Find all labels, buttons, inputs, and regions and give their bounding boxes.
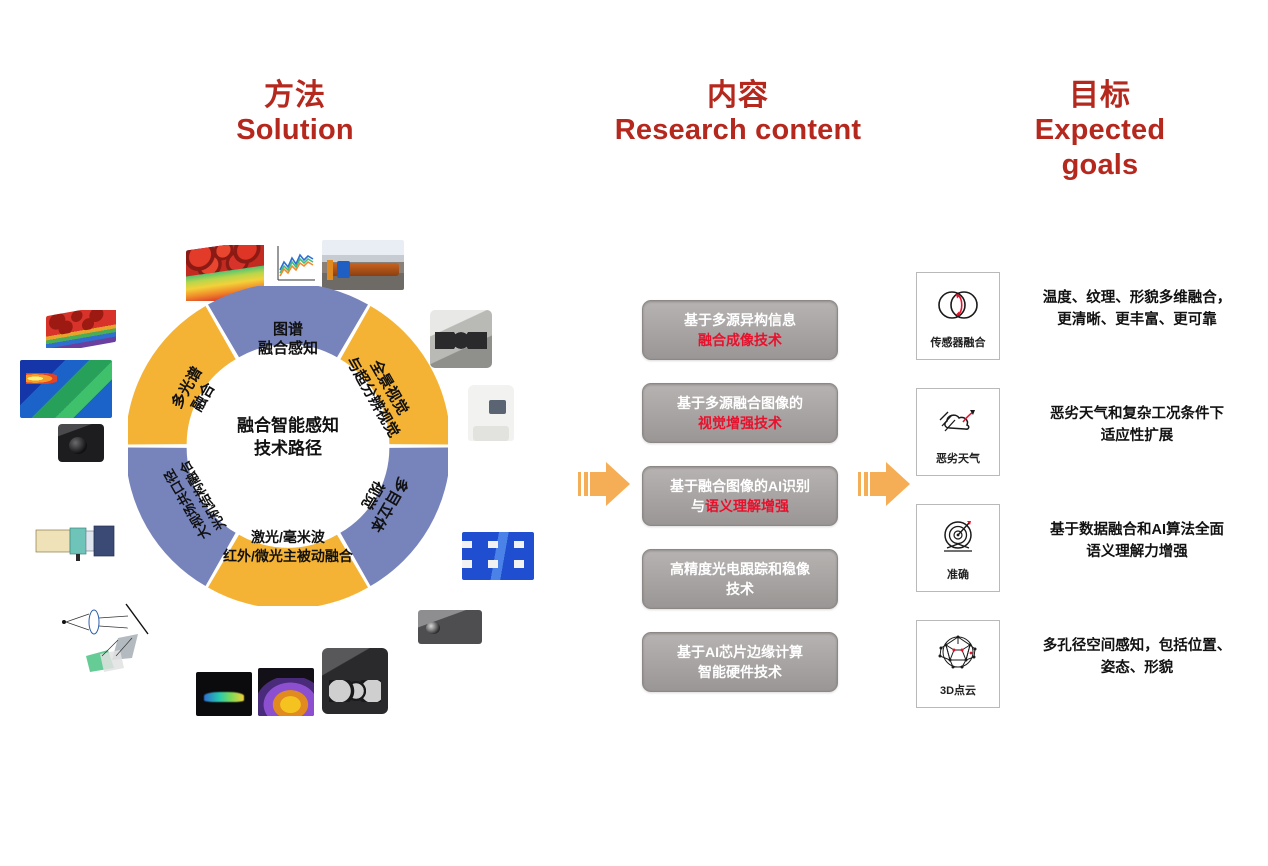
thumbnail-blue-stereo-panel [462,532,534,580]
research-box-4[interactable]: 高精度光电跟踪和稳像 技术 [642,549,838,609]
research-box-1-line1: 基于多源异构信息 [684,310,796,330]
goal-text-2-line2: 适应性扩展 [1028,426,1246,448]
column-heading-goals: 目标 Expected goals [1000,78,1200,182]
bad-weather-icon [930,398,986,444]
goal-row-1: 传感器融合 温度、纹理、形貌多维融合， 更清晰、更丰富、更可靠 [916,272,1246,360]
goal-icon-caption-2: 恶劣天气 [936,450,980,466]
research-box-3-line2-prefix: 与 [691,498,705,514]
heading-content-en: Research content [588,113,888,147]
donut-label-bottom-line2: 红外/微光主被动融合 [223,548,354,564]
goal-icon-caption-1: 传感器融合 [931,334,986,350]
research-box-3-line2: 语义理解增强 [705,498,789,514]
heading-solution-cn: 方法 [150,78,440,113]
thumbnail-thermal-night-scene [258,668,314,716]
goal-text-4-line1: 多孔径空间感知，包括位置、 [1028,636,1246,658]
research-box-2[interactable]: 基于多源融合图像的 视觉增强技术 [642,383,838,443]
research-box-2-line2: 视觉增强技术 [677,413,803,433]
donut-label-top-line2: 融合感知 [258,339,318,357]
donut-label-top-line1: 图谱 [273,320,303,338]
research-box-5-line2: 智能硬件技术 [677,662,803,682]
goal-text-1-line2: 更清晰、更丰富、更可靠 [1028,310,1246,332]
research-box-2-line1: 基于多源融合图像的 [677,393,803,413]
goal-row-2: 恶劣天气 恶劣天气和复杂工况条件下 适应性扩展 [916,388,1246,476]
heading-goals-en: Expected goals [1000,113,1200,181]
donut-center-label: 融合智能感知 技术路径 [188,414,388,461]
goal-text-1: 温度、纹理、形貌多维融合， 更清晰、更丰富、更可靠 [1028,288,1246,332]
arrow-solution-to-content [576,460,634,508]
thumbnail-grey-stereo-camera [418,610,482,644]
goal-icon-card-1[interactable]: 传感器融合 [916,272,1000,360]
thumbnail-infrared-thermal-scene [20,360,112,418]
solution-donut-chart: 图谱 融合感知 全景视觉 与超分辨视觉 多目立体 视觉 激光/毫米波 红外/微光… [128,286,448,606]
thumbnail-lidar-point-cloud [196,672,252,716]
goal-text-2-line1: 恶劣天气和复杂工况条件下 [1028,404,1246,426]
goal-icon-caption-3: 准确 [947,566,969,582]
thumbnail-multi-sensor-gimbal [322,648,388,714]
heading-solution-en: Solution [150,113,440,147]
thumbnail-industrial-pipeline-photo [322,240,404,290]
column-heading-content: 内容 Research content [588,78,888,148]
goal-row-4: 3D点云 多孔径空间感知，包括位置、 姿态、形貌 [916,620,1246,708]
goal-text-1-line1: 温度、纹理、形貌多维融合， [1028,288,1246,310]
point-cloud-icon [930,630,986,676]
research-box-4-line2: 技术 [670,579,810,599]
goal-row-3: 准确 基于数据融合和AI算法全面 语义理解力增强 [916,504,1246,592]
research-box-5[interactable]: 基于AI芯片边缘计算 智能硬件技术 [642,632,838,692]
thumbnail-spectral-curve-plot [270,240,318,288]
thumbnail-optical-assembly-diagram [32,518,124,564]
goal-icon-card-3[interactable]: 准确 [916,504,1000,592]
diagram-canvas: 方法 Solution 内容 Research content 目标 Expec… [0,0,1268,866]
goal-text-3: 基于数据融合和AI算法全面 语义理解力增强 [1028,520,1246,564]
thumbnail-apple-hyperspectral-slab [46,310,116,348]
research-box-1-line2: 融合成像技术 [684,330,796,350]
column-heading-solution: 方法 Solution [150,78,440,148]
donut-center-line1: 融合智能感知 [188,414,388,437]
donut-center-line2: 技术路径 [188,437,388,460]
goal-text-4: 多孔径空间感知，包括位置、 姿态、形貌 [1028,636,1246,680]
sensor-fusion-icon [930,282,986,328]
heading-content-cn: 内容 [588,78,888,113]
thumbnail-ptz-camera [468,385,514,441]
goal-text-2: 恶劣天气和复杂工况条件下 适应性扩展 [1028,404,1246,448]
research-box-3[interactable]: 基于融合图像的AI识别 与语义理解增强 [642,466,838,526]
goal-text-4-line2: 姿态、形貌 [1028,658,1246,680]
heading-goals-cn: 目标 [1000,78,1200,113]
research-box-1[interactable]: 基于多源异构信息 融合成像技术 [642,300,838,360]
arrow-content-to-goals [856,460,914,508]
goal-icon-caption-4: 3D点云 [940,682,976,698]
research-box-5-line1: 基于AI芯片边缘计算 [677,642,803,662]
donut-segment-bottom[interactable] [208,535,368,606]
target-accuracy-icon [930,514,986,560]
research-box-3-line1: 基于融合图像的AI识别 [670,476,810,496]
goal-text-3-line2: 语义理解力增强 [1028,542,1246,564]
research-box-4-line1: 高精度光电跟踪和稳像 [670,559,810,579]
goal-icon-card-2[interactable]: 恶劣天气 [916,388,1000,476]
thumbnail-black-camera-module [58,424,104,462]
goal-icon-card-4[interactable]: 3D点云 [916,620,1000,708]
donut-label-bottom-line1: 激光/毫米波 [251,529,326,545]
goal-text-3-line1: 基于数据融合和AI算法全面 [1028,520,1246,542]
